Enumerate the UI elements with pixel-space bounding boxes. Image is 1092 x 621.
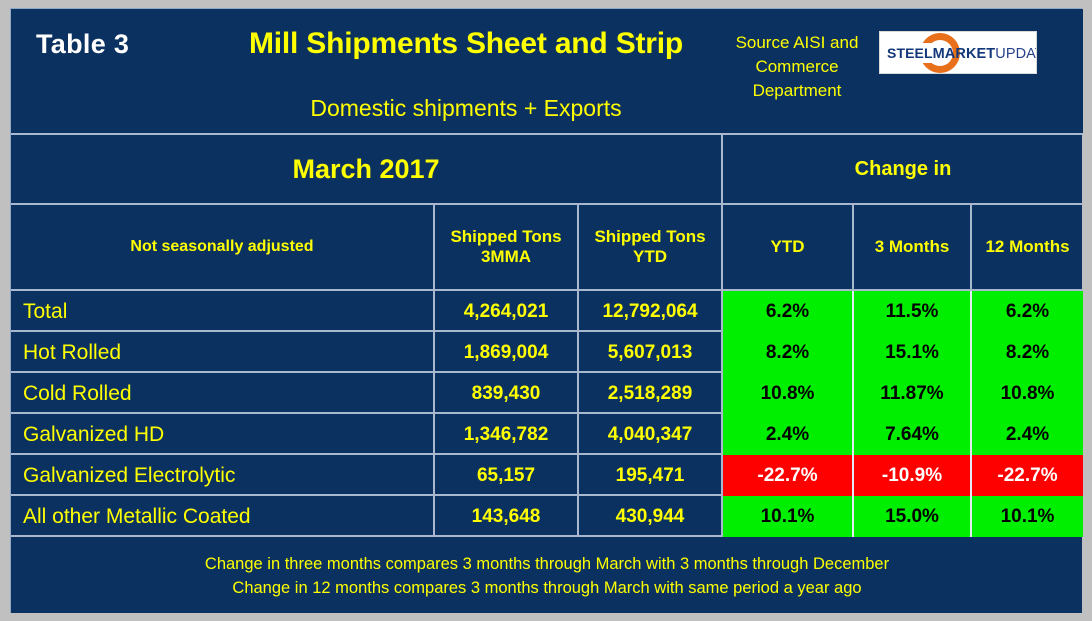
- row-label: Cold Rolled: [23, 373, 423, 414]
- cell-change-3-months: -10.9%: [854, 455, 970, 496]
- page-subtitle: Domestic shipments + Exports: [216, 95, 716, 122]
- change-group-label: Change in: [723, 135, 1083, 203]
- col-header-shipped-ytd: Shipped Tons YTD: [579, 205, 721, 289]
- footnotes: Change in three months compares 3 months…: [11, 552, 1083, 600]
- cell-shipped-3mma: 4,264,021: [435, 291, 577, 332]
- row-label: Galvanized Electrolytic: [23, 455, 423, 496]
- source-attribution: Source AISI and Commerce Department: [723, 31, 871, 103]
- cell-shipped-ytd: 12,792,064: [579, 291, 721, 332]
- col-header-shipped-ytd-line1: Shipped Tons: [594, 227, 705, 247]
- logo-word-update: UPDATE: [995, 46, 1037, 62]
- col-header-3-months: 3 Months: [854, 205, 970, 289]
- cell-change-3-months: 7.64%: [854, 414, 970, 455]
- col-header-shipped-ytd-line2: YTD: [633, 247, 667, 267]
- cell-shipped-ytd: 2,518,289: [579, 373, 721, 414]
- column-header-band: Not seasonally adjusted Shipped Tons 3MM…: [11, 205, 1083, 289]
- table-row[interactable]: Total4,264,02112,792,0646.2%11.5%6.2%: [11, 291, 1083, 332]
- cell-change-3-months: 15.0%: [854, 496, 970, 537]
- cell-shipped-3mma: 143,648: [435, 496, 577, 537]
- cell-change-12-months: -22.7%: [972, 455, 1083, 496]
- table-number-label: Table 3: [36, 29, 216, 60]
- row-label: Hot Rolled: [23, 332, 423, 373]
- row-label: All other Metallic Coated: [23, 496, 423, 537]
- cell-shipped-3mma: 839,430: [435, 373, 577, 414]
- pct-column-separator-2: [970, 455, 972, 496]
- title-band: Table 3 Mill Shipments Sheet and Strip D…: [11, 9, 1083, 133]
- cell-shipped-ytd: 195,471: [579, 455, 721, 496]
- pct-column-separator-1: [852, 496, 854, 537]
- pct-column-separator-2: [970, 291, 972, 332]
- cell-change-3-months: 11.5%: [854, 291, 970, 332]
- table-row[interactable]: Galvanized HD1,346,7824,040,3472.4%7.64%…: [11, 414, 1083, 455]
- col-header-row-label: Not seasonally adjusted: [11, 205, 433, 289]
- table-row[interactable]: All other Metallic Coated143,648430,9441…: [11, 496, 1083, 537]
- logo-word-market: MARKET: [933, 46, 996, 62]
- cell-change-12-months: 8.2%: [972, 332, 1083, 373]
- cell-shipped-3mma: 1,346,782: [435, 414, 577, 455]
- pct-column-separator-1: [852, 455, 854, 496]
- cell-change-ytd: 10.8%: [723, 373, 852, 414]
- cell-change-ytd: -22.7%: [723, 455, 852, 496]
- cell-change-ytd: 10.1%: [723, 496, 852, 537]
- cell-change-12-months: 2.4%: [972, 414, 1083, 455]
- pct-column-separator-2: [970, 373, 972, 414]
- cell-change-3-months: 11.87%: [854, 373, 970, 414]
- cell-shipped-3mma: 65,157: [435, 455, 577, 496]
- footnote-line-2: Change in 12 months compares 3 months th…: [11, 576, 1083, 600]
- cell-shipped-ytd: 4,040,347: [579, 414, 721, 455]
- col-header-shipped-3mma-line2: 3MMA: [481, 247, 531, 267]
- cell-change-12-months: 10.8%: [972, 373, 1083, 414]
- col-header-shipped-3mma: Shipped Tons 3MMA: [435, 205, 577, 289]
- cell-change-12-months: 10.1%: [972, 496, 1083, 537]
- pct-column-separator-1: [852, 291, 854, 332]
- col-header-shipped-3mma-line1: Shipped Tons: [450, 227, 561, 247]
- pct-column-separator-1: [852, 373, 854, 414]
- pct-column-separator-2: [970, 496, 972, 537]
- page-title: Mill Shipments Sheet and Strip: [216, 27, 716, 61]
- period-band: March 2017 Change in: [11, 135, 1083, 203]
- cell-change-12-months: 6.2%: [972, 291, 1083, 332]
- logo-word-steel: STEEL: [887, 45, 933, 61]
- pct-column-separator-2: [970, 332, 972, 373]
- row-label: Galvanized HD: [23, 414, 423, 455]
- cell-change-ytd: 2.4%: [723, 414, 852, 455]
- cell-shipped-3mma: 1,869,004: [435, 332, 577, 373]
- cell-change-ytd: 8.2%: [723, 332, 852, 373]
- table-row[interactable]: Galvanized Electrolytic65,157195,471-22.…: [11, 455, 1083, 496]
- col-header-12-months: 12 Months: [972, 205, 1083, 289]
- row-label: Total: [23, 291, 423, 332]
- slide-canvas: Table 3 Mill Shipments Sheet and Strip D…: [10, 8, 1082, 613]
- period-label: March 2017: [11, 135, 721, 203]
- pct-column-separator-1: [852, 332, 854, 373]
- footnote-line-1: Change in three months compares 3 months…: [11, 552, 1083, 576]
- col-header-ytd: YTD: [723, 205, 852, 289]
- cell-shipped-ytd: 430,944: [579, 496, 721, 537]
- pct-column-separator-2: [970, 414, 972, 455]
- table-row[interactable]: Hot Rolled1,869,0045,607,0138.2%15.1%8.2…: [11, 332, 1083, 373]
- logo-wordmark: STEELMARKETUPDATE: [887, 45, 1037, 62]
- cell-change-ytd: 6.2%: [723, 291, 852, 332]
- cell-shipped-ytd: 5,607,013: [579, 332, 721, 373]
- steel-market-update-logo: STEELMARKETUPDATE: [879, 31, 1037, 74]
- table-row[interactable]: Cold Rolled839,4302,518,28910.8%11.87%10…: [11, 373, 1083, 414]
- cell-change-3-months: 15.1%: [854, 332, 970, 373]
- pct-column-separator-1: [852, 414, 854, 455]
